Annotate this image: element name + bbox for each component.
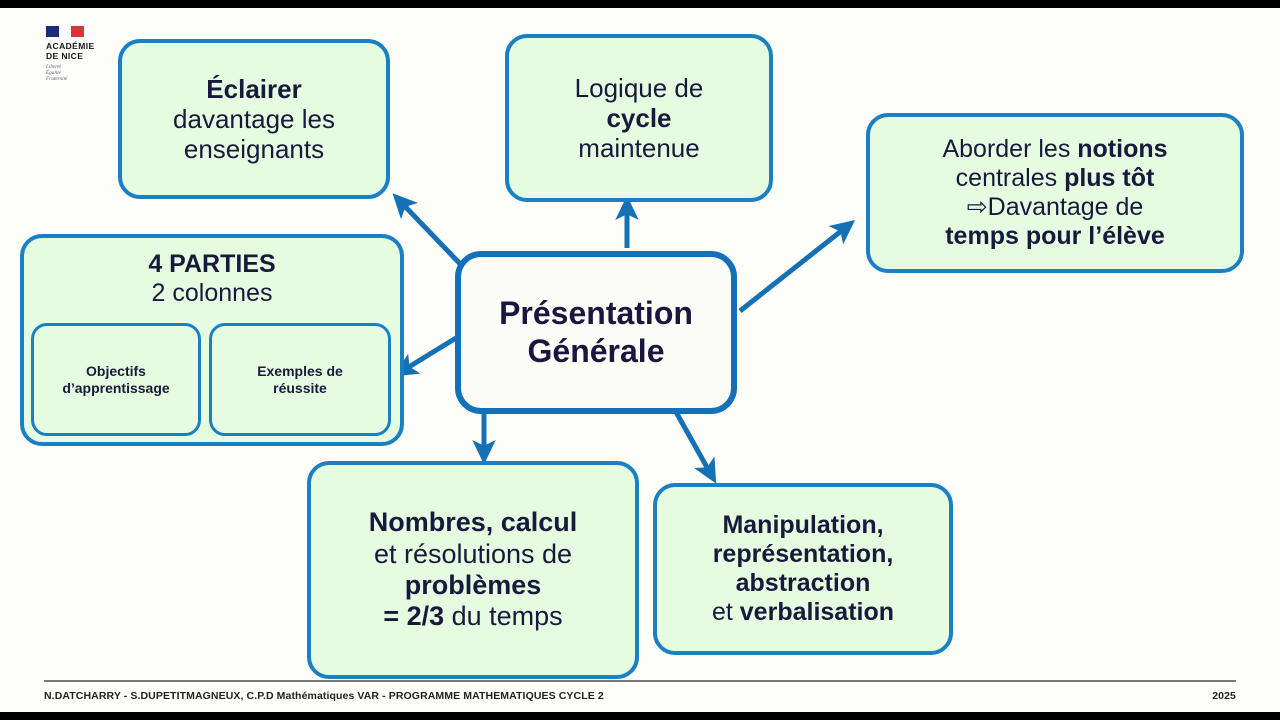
footer: N.DATCHARRY - S.DUPETITMAGNEUX, C.P.D Ma… xyxy=(44,690,1236,702)
node-notions-centrales-line-2: ⇨Davantage de xyxy=(967,193,1144,222)
academie-de-nice-logo: ACADÉMIE DE NICE Liberté Égalité Fratern… xyxy=(46,26,108,83)
letterbox-bottom xyxy=(0,712,1280,720)
footer-divider xyxy=(44,680,1236,682)
node-parties-line-1: 2 colonnes xyxy=(152,279,273,308)
arrow-to-notions xyxy=(740,224,850,311)
arrow-to-manipulation xyxy=(676,412,713,478)
node-eclairer-line-2: enseignants xyxy=(184,134,324,164)
letterbox-top xyxy=(0,0,1280,8)
sub-node-objectifs[interactable]: Objectifs d’apprentissage xyxy=(31,323,201,436)
arrow-to-parties xyxy=(399,338,456,373)
node-nombres-calcul-line-3: = 2/3 du temps xyxy=(383,601,562,632)
node-nombres-calcul[interactable]: Nombres, calcul et résolutions de problè… xyxy=(307,461,639,679)
center-line2: Générale xyxy=(528,333,665,370)
logo-motto-line3: Fraternité xyxy=(46,76,108,82)
node-manipulation-line-0: Manipulation, xyxy=(722,511,883,540)
node-logique-cycle-line-2: maintenue xyxy=(578,133,699,163)
node-nombres-calcul-line-1: et résolutions de xyxy=(374,539,572,570)
node-manipulation-line-3: et verbalisation xyxy=(712,598,894,627)
sub-node-exemples[interactable]: Exemples de réussite xyxy=(209,323,391,436)
sub-node-exemples-line1: Exemples de xyxy=(257,363,343,380)
arrow-to-eclairer xyxy=(397,198,466,270)
logo-name-line1: ACADÉMIE xyxy=(46,41,108,51)
node-logique-cycle[interactable]: Logique de cycle maintenue xyxy=(505,34,773,202)
node-eclairer-line-1: davantage les xyxy=(173,104,335,134)
node-logique-cycle-line-0: Logique de xyxy=(575,73,704,103)
footer-year: 2025 xyxy=(1212,690,1236,702)
node-nombres-calcul-line-2: problèmes xyxy=(405,570,542,601)
french-flag-icon xyxy=(46,26,84,37)
node-manipulation[interactable]: Manipulation, représentation, abstractio… xyxy=(653,483,953,655)
logo-name-line2: DE NICE xyxy=(46,51,108,61)
node-parties-line-0: 4 PARTIES xyxy=(148,250,275,279)
center-line1: Présentation xyxy=(499,295,693,332)
sub-node-exemples-line2: réussite xyxy=(257,380,343,397)
node-eclairer-line-0: Éclairer xyxy=(206,74,301,104)
slide-canvas: ACADÉMIE DE NICE Liberté Égalité Fratern… xyxy=(0,8,1280,712)
logo-name: ACADÉMIE DE NICE xyxy=(46,41,108,61)
node-presentation-generale[interactable]: Présentation Générale xyxy=(455,251,737,414)
node-manipulation-line-2: abstraction xyxy=(736,569,871,598)
sub-node-objectifs-line2: d’apprentissage xyxy=(62,380,169,397)
node-notions-centrales-line-0: Aborder les notions xyxy=(942,135,1167,164)
logo-motto: Liberté Égalité Fraternité xyxy=(46,64,108,83)
node-manipulation-line-1: représentation, xyxy=(713,540,894,569)
node-nombres-calcul-line-0: Nombres, calcul xyxy=(369,507,578,538)
node-logique-cycle-line-1: cycle xyxy=(606,103,671,133)
node-eclairer[interactable]: Éclairer davantage les enseignants xyxy=(118,39,390,199)
footer-credits: N.DATCHARRY - S.DUPETITMAGNEUX, C.P.D Ma… xyxy=(44,690,604,702)
node-notions-centrales[interactable]: Aborder les notions centrales plus tôt ⇨… xyxy=(866,113,1244,273)
node-notions-centrales-line-3: temps pour l’élève xyxy=(945,222,1165,251)
sub-node-objectifs-line1: Objectifs xyxy=(62,363,169,380)
node-notions-centrales-line-1: centrales plus tôt xyxy=(956,164,1155,193)
